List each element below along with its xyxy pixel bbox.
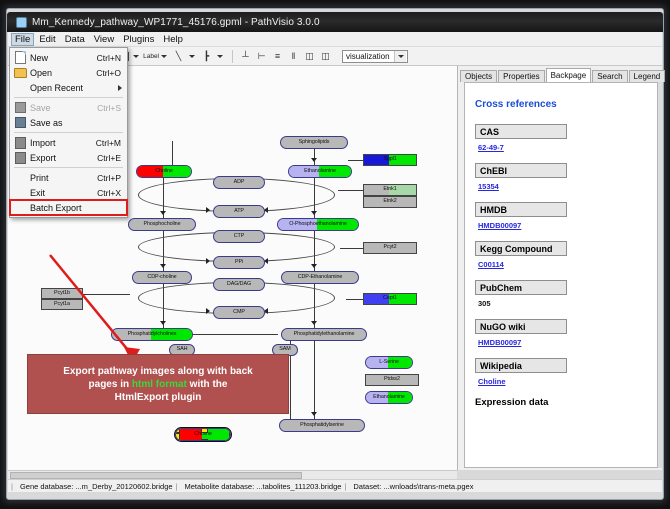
tab-search[interactable]: Search xyxy=(592,70,627,82)
node-label: Ptdss2 xyxy=(384,377,400,382)
edge xyxy=(172,141,173,165)
menu-item-file[interactable]: File xyxy=(11,33,34,46)
node-label: Pcyt2 xyxy=(384,245,397,250)
node-label: Choline xyxy=(155,169,173,174)
edge xyxy=(338,190,366,191)
expression-data-heading: Expression data xyxy=(475,397,647,408)
pointer-arrow-icon xyxy=(46,251,186,371)
save-as-icon-glyph xyxy=(15,117,26,128)
annotation-line-1: Export pathway images along with back xyxy=(63,366,253,377)
status-bar: | Gene database: ...m_Derby_20120602.bri… xyxy=(8,479,662,492)
menu-item-shortcut: Ctrl+M xyxy=(96,138,127,148)
label-tool-button[interactable]: Label xyxy=(143,53,159,60)
import-icon-glyph xyxy=(15,137,26,149)
edge xyxy=(192,334,278,335)
metabolite-node-ctp[interactable]: CTP xyxy=(213,230,265,243)
menu-bar: FileEditDataViewPluginsHelp xyxy=(8,32,662,47)
save-as-icon xyxy=(10,115,30,130)
gene-node-etnk2[interactable]: Etnk2 xyxy=(363,196,417,208)
tab-legend[interactable]: Legend xyxy=(629,70,666,82)
menu-item-label: Open Recent xyxy=(30,83,121,93)
visualization-select[interactable]: visualization xyxy=(342,50,408,63)
node-label: CDP-Ethanolamine xyxy=(298,275,343,280)
datanode-dropdown-icon[interactable] xyxy=(131,50,140,63)
scrollbar-thumb[interactable] xyxy=(10,472,302,479)
metabolite-node-sphingolipids[interactable]: Sphingolipids xyxy=(280,136,348,149)
metabolite-node-dag-dag[interactable]: DAG/DAG xyxy=(213,278,265,291)
edge xyxy=(314,149,315,165)
receptor-tool-button[interactable]: ┣ xyxy=(199,49,214,64)
gene-node-cept1[interactable]: Cept1 xyxy=(363,293,417,305)
edge xyxy=(314,341,315,419)
new-file-icon xyxy=(10,50,30,65)
stack-button[interactable]: ◫ xyxy=(302,49,317,64)
status-metabolite-database: Metabolite database: ...tabolites_111203… xyxy=(181,482,342,491)
xref-name-kegg-compound: Kegg Compound xyxy=(475,241,567,256)
panel-scrollbar[interactable] xyxy=(658,82,662,468)
node-label: Ethanolamine xyxy=(304,169,336,174)
menu-separator xyxy=(14,132,123,133)
file-menu-item-open-recent[interactable]: Open Recent xyxy=(10,80,127,95)
arrow-icon xyxy=(311,321,317,325)
open-folder-icon xyxy=(10,65,30,80)
metabolite-node-atp[interactable]: ATP xyxy=(213,205,265,218)
annotation-callout: Export pathway images along with back pa… xyxy=(27,354,289,414)
metabolite-node-cmp[interactable]: CMP xyxy=(213,306,265,319)
menu-item-label: Import xyxy=(30,138,96,148)
xref-name-cas: CAS xyxy=(475,124,567,139)
menu-item-shortcut: Ctrl+O xyxy=(96,68,127,78)
metabolite-node-phosphatidylserine[interactable]: Phosphatidylserine xyxy=(279,419,365,432)
group-button[interactable]: ◫ xyxy=(318,49,333,64)
distribute-horizontal-button[interactable]: ≡ xyxy=(270,49,285,64)
xref-value-chebi[interactable]: 15354 xyxy=(478,182,647,191)
file-menu-item-new[interactable]: NewCtrl+N xyxy=(10,50,127,65)
file-menu-dropdown[interactable]: NewCtrl+NOpenCtrl+OOpen RecentSaveCtrl+S… xyxy=(9,47,128,218)
menu-item-label: Batch Export xyxy=(30,203,121,213)
menu-item-shortcut: Ctrl+P xyxy=(97,173,127,183)
side-panel: ObjectsPropertiesBackpageSearchLegend Cr… xyxy=(458,66,662,470)
metabolite-node-phosphocholine[interactable]: Phosphocholine xyxy=(128,218,196,231)
selection-handle[interactable] xyxy=(229,439,231,441)
node-label: Etnk2 xyxy=(383,199,396,204)
export-icon-glyph xyxy=(15,152,26,164)
file-menu-item-save[interactable]: SaveCtrl+S xyxy=(10,100,127,115)
align-top-button[interactable]: ┴ xyxy=(238,49,253,64)
node-label: ATP xyxy=(234,209,244,214)
menu-item-plugins[interactable]: Plugins xyxy=(119,33,158,46)
menu-item-shortcut: Ctrl+S xyxy=(97,103,127,113)
arrow-icon xyxy=(206,308,210,314)
menu-item-label: Export xyxy=(30,153,97,163)
xref-value-kegg-compound[interactable]: C00114 xyxy=(478,260,647,269)
gene-node-sgpl1[interactable]: Sgpl1 xyxy=(363,154,417,166)
metabolite-node-adp[interactable]: ADP xyxy=(213,176,265,189)
metabolite-node-o-phosphoethanolamine[interactable]: O-Phosphoethanolamine xyxy=(277,218,359,231)
node-label: Ethanolamine xyxy=(373,395,405,400)
menu-separator xyxy=(14,97,123,98)
node-label: DAG/DAG xyxy=(227,282,251,287)
metabolite-node-choline[interactable]: Choline xyxy=(175,428,231,441)
no-icon xyxy=(10,185,30,200)
arrow-icon xyxy=(311,211,317,215)
node-label: Sgpl1 xyxy=(383,157,396,162)
new-file-icon-glyph xyxy=(15,51,26,64)
gene-node-ptdss2[interactable]: Ptdss2 xyxy=(365,374,419,386)
menu-item-data[interactable]: Data xyxy=(61,33,89,46)
file-menu-item-open[interactable]: OpenCtrl+O xyxy=(10,65,127,80)
metabolite-node-ethanolamine[interactable]: Ethanolamine xyxy=(288,165,352,178)
xref-value-wikipedia[interactable]: Choline xyxy=(478,377,647,386)
visualization-value: visualization xyxy=(346,52,390,61)
node-label: L-Serine xyxy=(379,360,399,365)
export-icon xyxy=(10,150,30,165)
arrow-icon xyxy=(206,207,210,213)
xref-name-hmdb: HMDB xyxy=(475,202,567,217)
xref-value-hmdb[interactable]: HMDB00097 xyxy=(478,221,647,230)
xref-name-chebi: ChEBI xyxy=(475,163,567,178)
annotation-line-2-post: with the xyxy=(187,379,228,390)
status-divider-1: | xyxy=(173,482,181,491)
no-icon xyxy=(10,80,30,95)
tab-objects[interactable]: Objects xyxy=(460,70,497,82)
arrow-icon xyxy=(311,158,317,162)
side-panel-tabs: ObjectsPropertiesBackpageSearchLegend xyxy=(460,68,666,82)
status-dataset: Dataset: ...wnloads\trans-meta.pgex xyxy=(349,482,473,491)
node-label: SAM xyxy=(279,347,290,352)
import-icon xyxy=(10,135,30,150)
screenshot-frame: Mm_Kennedy_pathway_WP1771_45176.gpml - P… xyxy=(0,0,670,509)
title-bar: Mm_Kennedy_pathway_WP1771_45176.gpml - P… xyxy=(7,12,663,32)
metabolite-node-phosphatidylethanolamine[interactable]: Phosphatidylethanolamine xyxy=(281,328,367,341)
node-label: Sphingolipids xyxy=(299,140,330,145)
annotation-highlight: html format xyxy=(132,379,187,390)
status-gene-database: Gene database: ...m_Derby_20120602.bridg… xyxy=(16,482,173,491)
file-menu-item-batch-export[interactable]: Batch Export xyxy=(10,200,127,215)
gene-node-pcyt2[interactable]: Pcyt2 xyxy=(363,242,417,254)
xref-value-cas[interactable]: 62-49-7 xyxy=(478,143,647,152)
metabolite-node-ppi[interactable]: PPi xyxy=(213,256,265,269)
arrow-icon xyxy=(311,412,317,416)
pathvisio-icon xyxy=(14,16,28,28)
menu-item-shortcut: Ctrl+X xyxy=(97,188,127,198)
file-menu-item-print[interactable]: PrintCtrl+P xyxy=(10,170,127,185)
xref-name-pubchem: PubChem xyxy=(475,280,567,295)
node-label: Phosphatidylserine xyxy=(300,423,344,428)
node-label: Phosphatidylethanolamine xyxy=(294,332,355,337)
metabolite-node-l-serine[interactable]: L-Serine xyxy=(365,356,413,369)
menu-item-label: Save xyxy=(30,103,97,113)
arrow-icon xyxy=(311,264,317,268)
menu-item-view[interactable]: View xyxy=(90,33,118,46)
metabolite-node-ethanolamine[interactable]: Ethanolamine xyxy=(365,391,413,404)
backpage-content: Cross references CAS62-49-7ChEBI15354HMD… xyxy=(464,82,658,468)
tab-properties[interactable]: Properties xyxy=(498,70,544,82)
label-dropdown-icon[interactable] xyxy=(159,50,168,63)
open-folder-icon-glyph xyxy=(14,68,27,78)
tab-backpage[interactable]: Backpage xyxy=(546,68,592,82)
menu-item-label: Open xyxy=(30,68,96,78)
node-label: Cept1 xyxy=(383,296,397,301)
xref-value-nugo-wiki[interactable]: HMDB00097 xyxy=(478,338,647,347)
align-left-button[interactable]: ⊢ xyxy=(254,49,269,64)
node-label: Phosphocholine xyxy=(144,222,181,227)
no-icon xyxy=(10,200,30,215)
distribute-vertical-button[interactable]: ‖ xyxy=(286,49,301,64)
menu-item-label: Save as xyxy=(30,118,121,128)
metabolite-node-cdp-ethanolamine[interactable]: CDP-Ethanolamine xyxy=(281,271,359,284)
line-dropdown-icon[interactable] xyxy=(187,50,196,63)
menu-item-edit[interactable]: Edit xyxy=(35,33,59,46)
menu-item-label: Exit xyxy=(30,188,97,198)
menu-item-label: New xyxy=(30,53,97,63)
menu-item-shortcut: Ctrl+N xyxy=(97,53,127,63)
file-menu-item-save-as[interactable]: Save as xyxy=(10,115,127,130)
annotation-text: Export pathway images along with back pa… xyxy=(55,365,261,404)
save-icon xyxy=(10,100,30,115)
node-label: ADP xyxy=(234,180,245,185)
file-menu-item-import[interactable]: ImportCtrl+M xyxy=(10,135,127,150)
line-tool-button[interactable]: ╲ xyxy=(171,49,186,64)
annotation-line-3: HtmlExport plugin xyxy=(115,392,202,403)
submenu-arrow-icon xyxy=(118,85,122,91)
receptor-dropdown-icon[interactable] xyxy=(215,50,224,63)
cross-references-heading: Cross references xyxy=(475,99,647,110)
annotation-line-2-pre: pages in xyxy=(89,379,132,390)
node-label: CTP xyxy=(234,234,244,239)
node-label: Etnk1 xyxy=(383,187,396,192)
selection-handle[interactable] xyxy=(201,428,208,433)
xref-value-pubchem: 305 xyxy=(478,299,647,308)
menu-item-label: Print xyxy=(30,173,97,183)
cross-reference-list: CAS62-49-7ChEBI15354HMDBHMDB00097Kegg Co… xyxy=(475,124,647,386)
xref-name-wikipedia: Wikipedia xyxy=(475,358,567,373)
save-icon-glyph xyxy=(15,102,26,113)
arrow-icon xyxy=(206,258,210,264)
node-label: O-Phosphoethanolamine xyxy=(289,222,347,227)
file-menu-item-export[interactable]: ExportCtrl+E xyxy=(10,150,127,165)
selection-handle[interactable] xyxy=(201,439,208,441)
window-title: Mm_Kennedy_pathway_WP1771_45176.gpml - P… xyxy=(32,17,320,28)
node-label: PPi xyxy=(235,260,243,265)
arrow-icon xyxy=(160,211,166,215)
chevron-down-icon-2[interactable] xyxy=(394,51,406,62)
menu-separator xyxy=(14,167,123,168)
no-icon xyxy=(10,170,30,185)
status-divider-2: | xyxy=(341,482,349,491)
menu-item-shortcut: Ctrl+E xyxy=(97,153,127,163)
status-divider-0: | xyxy=(8,482,16,491)
file-menu-item-exit[interactable]: ExitCtrl+X xyxy=(10,185,127,200)
xref-name-nugo-wiki: NuGO wiki xyxy=(475,319,567,334)
toolbar-divider-2 xyxy=(232,50,233,63)
selection-handle[interactable] xyxy=(175,439,180,441)
node-label: CMP xyxy=(233,310,245,315)
metabolite-node-choline[interactable]: Choline xyxy=(136,165,192,178)
menu-item-help[interactable]: Help xyxy=(159,33,187,46)
gene-node-etnk1[interactable]: Etnk1 xyxy=(363,184,417,196)
